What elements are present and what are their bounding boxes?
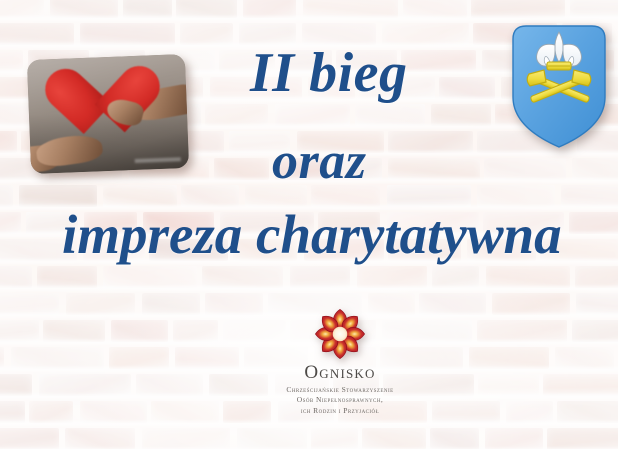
brick xyxy=(506,401,553,423)
brick xyxy=(431,104,491,126)
brick xyxy=(419,293,486,315)
brick xyxy=(432,401,500,423)
brick xyxy=(576,293,618,315)
brick xyxy=(0,185,13,207)
heart-photo-image xyxy=(27,54,189,174)
left-hand-shape xyxy=(35,132,104,169)
brick xyxy=(439,77,495,99)
brick xyxy=(557,401,618,423)
headline-line-2: oraz xyxy=(272,136,366,188)
brick xyxy=(175,347,239,369)
ognisko-tagline: Chrześcijańskie Stowarzyszenie Osób Niep… xyxy=(265,385,415,416)
brick xyxy=(484,158,566,180)
brick xyxy=(11,347,104,369)
brick xyxy=(572,320,618,342)
brick xyxy=(469,347,549,369)
brick xyxy=(543,374,618,396)
brick xyxy=(80,401,147,423)
headline-line-3: impreza charytatywna xyxy=(62,207,562,262)
ognisko-mark-core xyxy=(333,327,348,342)
brick xyxy=(66,293,135,315)
ognisko-tagline-line-3: ich Rodzin i Przyjaciół xyxy=(265,406,415,416)
brick xyxy=(103,266,197,288)
brick xyxy=(430,428,479,449)
brick xyxy=(388,158,480,180)
brick xyxy=(561,185,618,207)
brick xyxy=(136,374,203,396)
brick xyxy=(0,347,4,369)
brick xyxy=(0,320,39,342)
brick xyxy=(0,212,21,234)
brick xyxy=(109,347,169,369)
brick xyxy=(547,428,618,449)
brick xyxy=(214,158,269,180)
brick xyxy=(80,23,175,45)
brick xyxy=(355,104,425,126)
brick xyxy=(142,293,200,315)
brick xyxy=(43,320,105,342)
brick xyxy=(65,428,135,449)
brick xyxy=(205,293,263,315)
ognisko-wordmark: Ognisko xyxy=(265,363,415,383)
brick xyxy=(142,428,230,449)
brick xyxy=(0,266,32,288)
brick xyxy=(237,428,307,449)
brick xyxy=(0,428,59,449)
ognisko-flower-mark xyxy=(312,306,368,362)
brick xyxy=(0,23,74,45)
ognisko-logo-block: Ognisko Chrześcijańskie Stowarzyszenie O… xyxy=(265,306,415,416)
photo-watermark xyxy=(135,157,181,163)
brick xyxy=(311,428,358,449)
brick-row xyxy=(0,264,618,291)
brick xyxy=(477,320,567,342)
brick xyxy=(362,428,426,449)
headline-line-1: II bieg xyxy=(250,45,408,101)
poster-canvas: II bieg oraz impreza charytatywna xyxy=(0,0,618,449)
brick xyxy=(37,266,97,288)
brick xyxy=(111,320,168,342)
brick xyxy=(39,374,131,396)
coat-of-arms-shield xyxy=(509,21,609,151)
brick xyxy=(0,401,25,423)
brick xyxy=(357,266,427,288)
brick xyxy=(478,374,539,396)
brick xyxy=(432,266,479,288)
heart-photo xyxy=(27,54,189,174)
brick xyxy=(275,104,350,126)
brick xyxy=(575,266,618,288)
brick-row xyxy=(0,0,618,21)
brick xyxy=(209,374,268,396)
brick xyxy=(0,293,59,315)
ognisko-tagline-line-1: Chrześcijańskie Stowarzyszenie xyxy=(265,385,415,395)
brick xyxy=(388,131,473,153)
brick xyxy=(202,266,283,288)
brick xyxy=(492,293,570,315)
brick xyxy=(555,347,614,369)
brick xyxy=(569,212,618,234)
brick-row xyxy=(0,426,618,449)
brick xyxy=(0,131,17,153)
brick xyxy=(180,23,233,45)
brick xyxy=(290,266,350,288)
brick xyxy=(485,428,543,449)
ognisko-tagline-line-2: Osób Niepełnosprawnych, xyxy=(265,395,415,405)
brick xyxy=(151,401,219,423)
brick xyxy=(173,320,218,342)
brick xyxy=(401,50,476,72)
brick xyxy=(0,374,32,396)
brick xyxy=(0,50,23,72)
brick xyxy=(486,266,570,288)
brick xyxy=(223,401,271,423)
brick xyxy=(29,401,73,423)
brick xyxy=(572,158,618,180)
brick xyxy=(205,104,268,126)
